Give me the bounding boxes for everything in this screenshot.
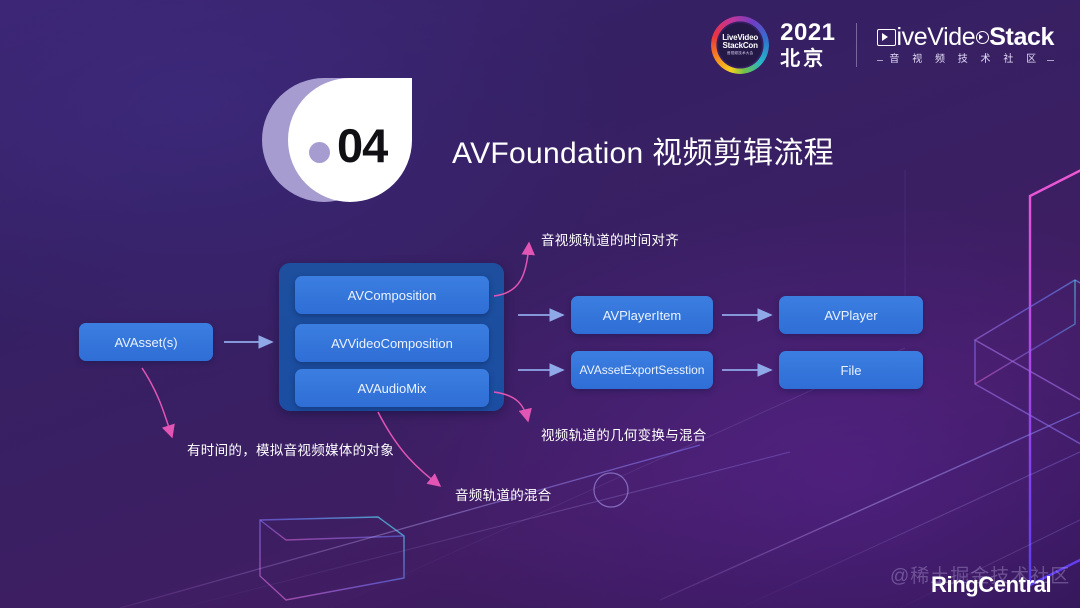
wordmark-live: ive	[897, 25, 928, 50]
node-avasset-label: AVAsset(s)	[114, 335, 177, 350]
annotation-time-align: 音视频轨道的时间对齐	[541, 229, 679, 249]
event-year: 2021	[780, 21, 835, 45]
badge-line3: 音视频技术大会	[727, 52, 754, 56]
event-year-city: 2021 北京	[780, 21, 835, 69]
section-number: 04	[337, 118, 387, 173]
tagline-rule-right	[1047, 60, 1054, 61]
node-avasset[interactable]: AVAsset(s)	[79, 323, 213, 361]
section-number-badge: 04	[262, 78, 442, 202]
livevideostackcon-badge-icon: LiveVideo StackCon 音视频技术大会	[711, 16, 769, 74]
ringcentral-logo: RingCentral	[931, 572, 1051, 598]
annotation-geometry-blend: 视频轨道的几何变换与混合	[541, 424, 707, 444]
callout-curve-timed-object	[142, 368, 172, 437]
livevideostack-wordmark: iveVideStack 音 视 频 技 术 社 区	[877, 25, 1054, 65]
node-avplayeritem[interactable]: AVPlayerItem	[571, 296, 713, 334]
play-button-icon	[877, 29, 896, 46]
node-avassetexportsession-label: AVAssetExportSesstion	[580, 363, 705, 377]
wordmark-video: Vide	[927, 25, 975, 50]
node-avplayeritem-label: AVPlayerItem	[603, 308, 682, 323]
wordmark-tagline: 音 视 频 技 术 社 区	[889, 55, 1041, 65]
node-avplayer-label: AVPlayer	[824, 308, 877, 323]
header-logos: LiveVideo StackCon 音视频技术大会 2021 北京 iveVi…	[711, 16, 1054, 74]
wordmark-stack: Stack	[989, 25, 1054, 50]
node-avaudiomix[interactable]: AVAudioMix	[295, 369, 489, 407]
play-circle-icon	[976, 31, 989, 44]
node-file-label: File	[841, 363, 862, 378]
slide-canvas: LiveVideo StackCon 音视频技术大会 2021 北京 iveVi…	[0, 0, 1080, 608]
tagline-rule-left	[877, 60, 884, 61]
node-avaudiomix-label: AVAudioMix	[358, 381, 427, 396]
node-avplayer[interactable]: AVPlayer	[779, 296, 923, 334]
badge-core: LiveVideo StackCon 音视频技术大会	[718, 23, 762, 67]
badge-line2: StackCon	[722, 42, 757, 50]
page-title: AVFoundation 视频剪辑流程	[452, 128, 834, 172]
node-avcomposition[interactable]: AVComposition	[295, 276, 489, 314]
node-avvideocomposition[interactable]: AVVideoComposition	[295, 324, 489, 362]
annotation-timed-object: 有时间的，模拟音视频媒体的对象	[187, 439, 394, 459]
badge-accent-dot	[309, 142, 330, 163]
node-avvideocomposition-label: AVVideoComposition	[331, 336, 453, 351]
header-divider	[856, 23, 857, 67]
node-avassetexportsession[interactable]: AVAssetExportSesstion	[571, 351, 713, 389]
event-city: 北京	[780, 49, 835, 69]
wordmark-main: iveVideStack	[877, 25, 1054, 50]
wordmark-tagline-row: 音 视 频 技 术 社 区	[877, 55, 1054, 65]
node-avcomposition-label: AVComposition	[348, 288, 437, 303]
annotation-audio-mixing: 音频轨道的混合	[455, 484, 552, 504]
node-file[interactable]: File	[779, 351, 923, 389]
